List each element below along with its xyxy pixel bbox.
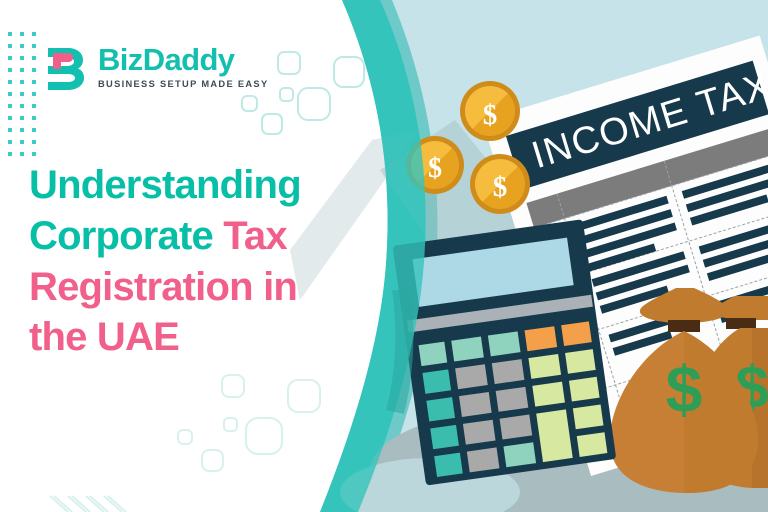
- page-title: Understanding Corporate Tax Registration…: [29, 160, 374, 363]
- money-bag-tie: [668, 320, 700, 332]
- money-bag-dollar-symbol: $: [666, 352, 703, 426]
- coin-dollar-symbol: $: [483, 99, 498, 131]
- coin-top: $: [460, 81, 520, 141]
- headline-line-2a: Corporate: [29, 214, 223, 258]
- brand-name: BizDaddy: [98, 44, 268, 75]
- brand-tagline: BUSINESS SETUP MADE EASY: [98, 80, 268, 89]
- coin-right: $: [470, 154, 530, 214]
- brand-logo[interactable]: BizDaddy BUSINESS SETUP MADE EASY: [44, 44, 268, 90]
- headline-line-1: Understanding: [29, 160, 374, 211]
- headline-line-3: Registration in: [29, 262, 374, 313]
- coin-dollar-symbol: $: [428, 153, 442, 184]
- headline-line-2b: Tax: [223, 214, 287, 258]
- headline-line-2: Corporate Tax: [29, 211, 374, 262]
- coin-dollar-symbol: $: [493, 171, 508, 203]
- bizdaddy-b-monogram-icon: [44, 44, 88, 90]
- headline-line-4: the UAE: [29, 312, 374, 363]
- calculator: [392, 219, 616, 485]
- money-bag-tie: [726, 318, 756, 329]
- banner-canvas: INCOME TAX: [0, 0, 768, 512]
